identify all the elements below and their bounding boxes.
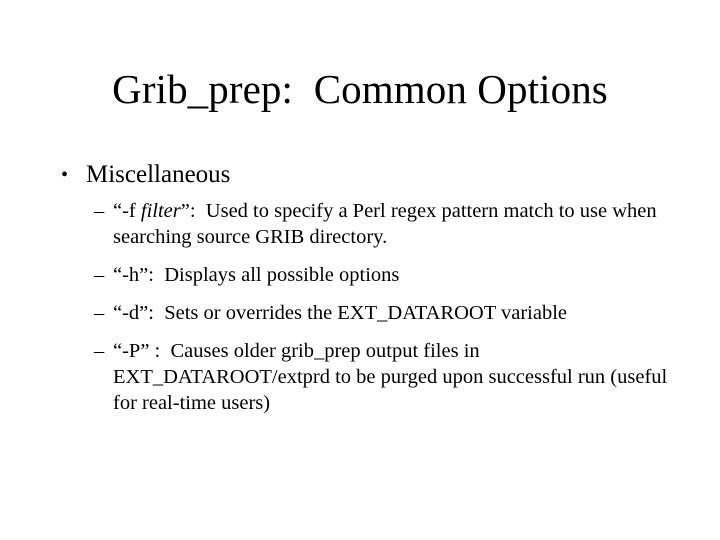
slide-title: Grib_prep: Common Options xyxy=(36,66,684,112)
sub-bullet-f-filter: – “-f filter”: Used to specify a Perl re… xyxy=(56,198,680,250)
sub-bullet-h-text: “-h”: Displays all possible options xyxy=(113,262,680,288)
bullet-dash-icon: – xyxy=(94,262,104,288)
sub-bullet-f-filter-text: “-f filter”: Used to specify a Perl rege… xyxy=(113,198,680,250)
bullet-dot-icon: • xyxy=(61,160,68,190)
sub-bullet-p: – “-P” : Causes older grib_prep output f… xyxy=(56,338,680,416)
sub-bullet-d: – “-d”: Sets or overrides the EXT_DATARO… xyxy=(56,300,680,326)
sub-bullet-h: – “-h”: Displays all possible options xyxy=(56,262,680,288)
bullet-dash-icon: – xyxy=(94,300,104,326)
sub-bullet-f-filter-prefix: “-f xyxy=(113,200,141,222)
sub-bullet-f-filter-emphasis: filter xyxy=(141,200,181,222)
slide-body: • Miscellaneous – “-f filter”: Used to s… xyxy=(56,160,680,416)
sub-bullet-list: – “-f filter”: Used to specify a Perl re… xyxy=(56,198,680,416)
bullet-dash-icon: – xyxy=(94,338,104,364)
sub-bullet-f-filter-suffix: ”: Used to specify a Perl regex pattern … xyxy=(113,200,662,248)
slide: Grib_prep: Common Options • Miscellaneou… xyxy=(0,0,720,540)
sub-bullet-p-text: “-P” : Causes older grib_prep output fil… xyxy=(113,338,680,416)
bullet-level1-label: Miscellaneous xyxy=(86,161,230,188)
bullet-dash-icon: – xyxy=(94,198,104,224)
bullet-level1-miscellaneous: • Miscellaneous xyxy=(56,160,680,190)
sub-bullet-d-text: “-d”: Sets or overrides the EXT_DATAROOT… xyxy=(113,300,680,326)
